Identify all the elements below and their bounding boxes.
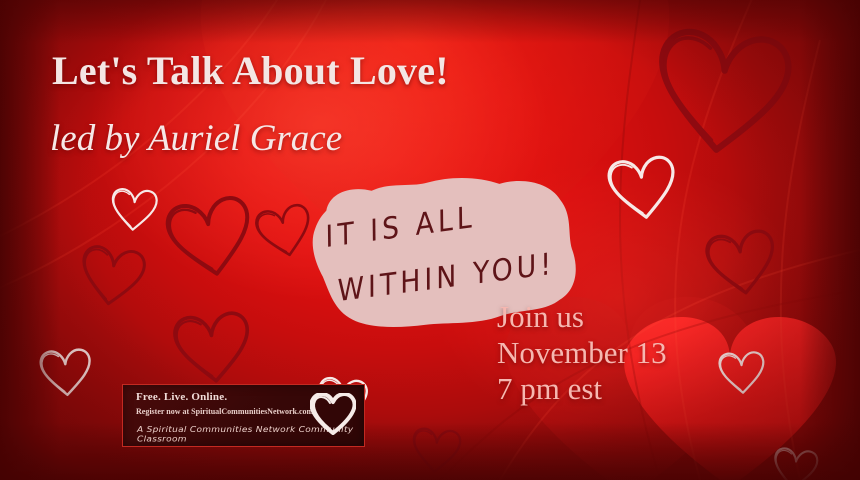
event-details: Join us November 13 7 pm est xyxy=(497,299,667,407)
page-title: Let's Talk About Love! xyxy=(52,47,449,94)
registration-info-box[interactable]: Free. Live. Online. Register now at Spir… xyxy=(122,384,365,447)
love-talk-poster: Let's Talk About Love! led by Auriel Gra… xyxy=(0,0,860,480)
info-tagline: Free. Live. Online. xyxy=(136,391,227,403)
heart-outline-icon xyxy=(310,393,356,437)
info-register-url[interactable]: Register now at SpiritualCommunitiesNetw… xyxy=(136,407,313,416)
page-subtitle: led by Auriel Grace xyxy=(50,117,342,160)
join-line-1: Join us xyxy=(497,299,667,335)
join-time: 7 pm est xyxy=(497,371,667,407)
join-date: November 13 xyxy=(497,335,667,371)
